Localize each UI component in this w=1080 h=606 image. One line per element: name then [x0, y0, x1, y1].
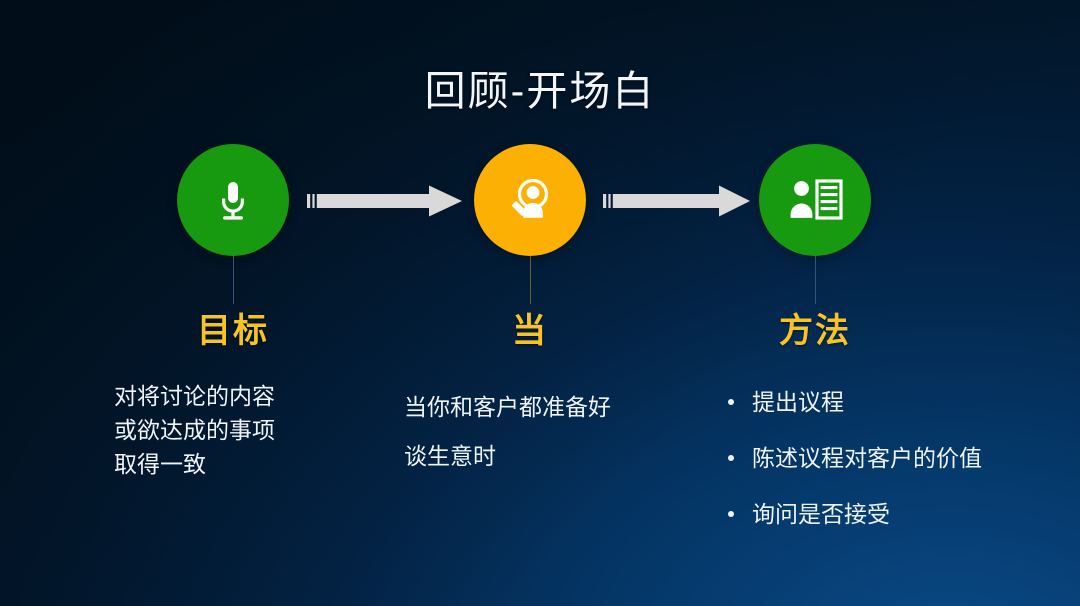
flow-node-2[interactable]	[474, 144, 586, 256]
slide-canvas: 回顾-开场白	[0, 0, 1080, 606]
arrow-step2-to-step3	[603, 184, 751, 218]
method-bullet-list: 提出议程 陈述议程对客户的价值 询问是否接受	[722, 385, 1062, 531]
step-heading-1: 目标	[153, 303, 313, 352]
microphone-icon	[206, 173, 260, 227]
arrow-step1-to-step2	[307, 184, 463, 218]
list-item: 询问是否接受	[722, 497, 1062, 531]
body-line: 当你和客户都准备好	[404, 383, 704, 432]
step-body-1: 对将讨论的内容 或欲达成的事项 取得一致	[114, 379, 364, 481]
circle-step-1	[177, 144, 289, 256]
page-title: 回顾-开场白	[0, 57, 1080, 117]
connector-line-2	[530, 256, 531, 304]
body-line: 取得一致	[114, 447, 364, 481]
person-search-icon	[502, 172, 558, 228]
person-list-icon	[787, 174, 843, 226]
flow-node-3[interactable]	[759, 144, 871, 256]
flow-node-1[interactable]	[177, 144, 289, 256]
process-flow	[0, 144, 1080, 256]
step-heading-3: 方法	[735, 303, 895, 352]
body-line: 或欲达成的事项	[114, 413, 364, 447]
circle-step-3	[759, 144, 871, 256]
step-body-2: 当你和客户都准备好 谈生意时	[404, 383, 704, 481]
step-heading-2: 当	[450, 303, 610, 352]
connector-line-3	[815, 256, 816, 304]
step-body-3: 提出议程 陈述议程对客户的价值 询问是否接受	[722, 385, 1062, 553]
circle-step-2	[474, 144, 586, 256]
list-item: 陈述议程对客户的价值	[722, 441, 1062, 475]
step-headings: 目标 当 方法	[0, 303, 1080, 351]
body-line: 对将讨论的内容	[114, 379, 364, 413]
list-item: 提出议程	[722, 385, 1062, 419]
connector-line-1	[233, 256, 234, 304]
body-line: 谈生意时	[404, 432, 704, 481]
